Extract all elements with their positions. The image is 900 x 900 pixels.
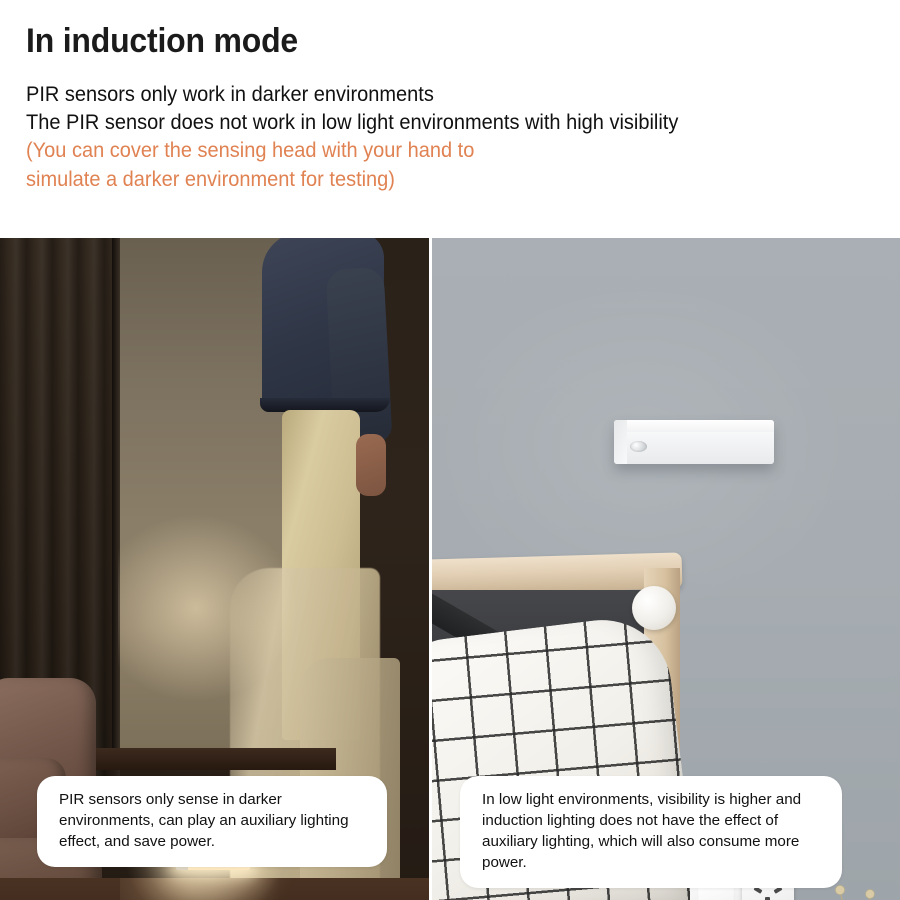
description-line-3: (You can cover the sensing head with you… xyxy=(26,136,815,164)
pir-night-light-end-bevel xyxy=(614,420,627,464)
intro-text-block: In induction mode PIR sensors only work … xyxy=(0,0,900,238)
pillow-pompom xyxy=(632,586,676,630)
page-root: In induction mode PIR sensors only work … xyxy=(0,0,900,900)
person-hand xyxy=(356,434,386,496)
description-line-1: PIR sensors only work in darker environm… xyxy=(26,80,815,108)
description-lines: PIR sensors only work in darker environm… xyxy=(26,80,874,194)
wall-light-pool xyxy=(118,488,308,758)
description-line-4: simulate a darker environment for testin… xyxy=(26,165,815,193)
pir-sensor-dome-icon xyxy=(630,441,647,452)
caption-dark-room: PIR sensors only sense in darker environ… xyxy=(37,776,387,867)
floor-light-reflection xyxy=(120,878,330,900)
pir-night-light-top-face xyxy=(614,420,774,432)
caption-bright-room: In low light environments, visibility is… xyxy=(460,776,842,888)
page-title: In induction mode xyxy=(26,24,823,60)
description-line-2: The PIR sensor does not work in low ligh… xyxy=(26,108,815,136)
